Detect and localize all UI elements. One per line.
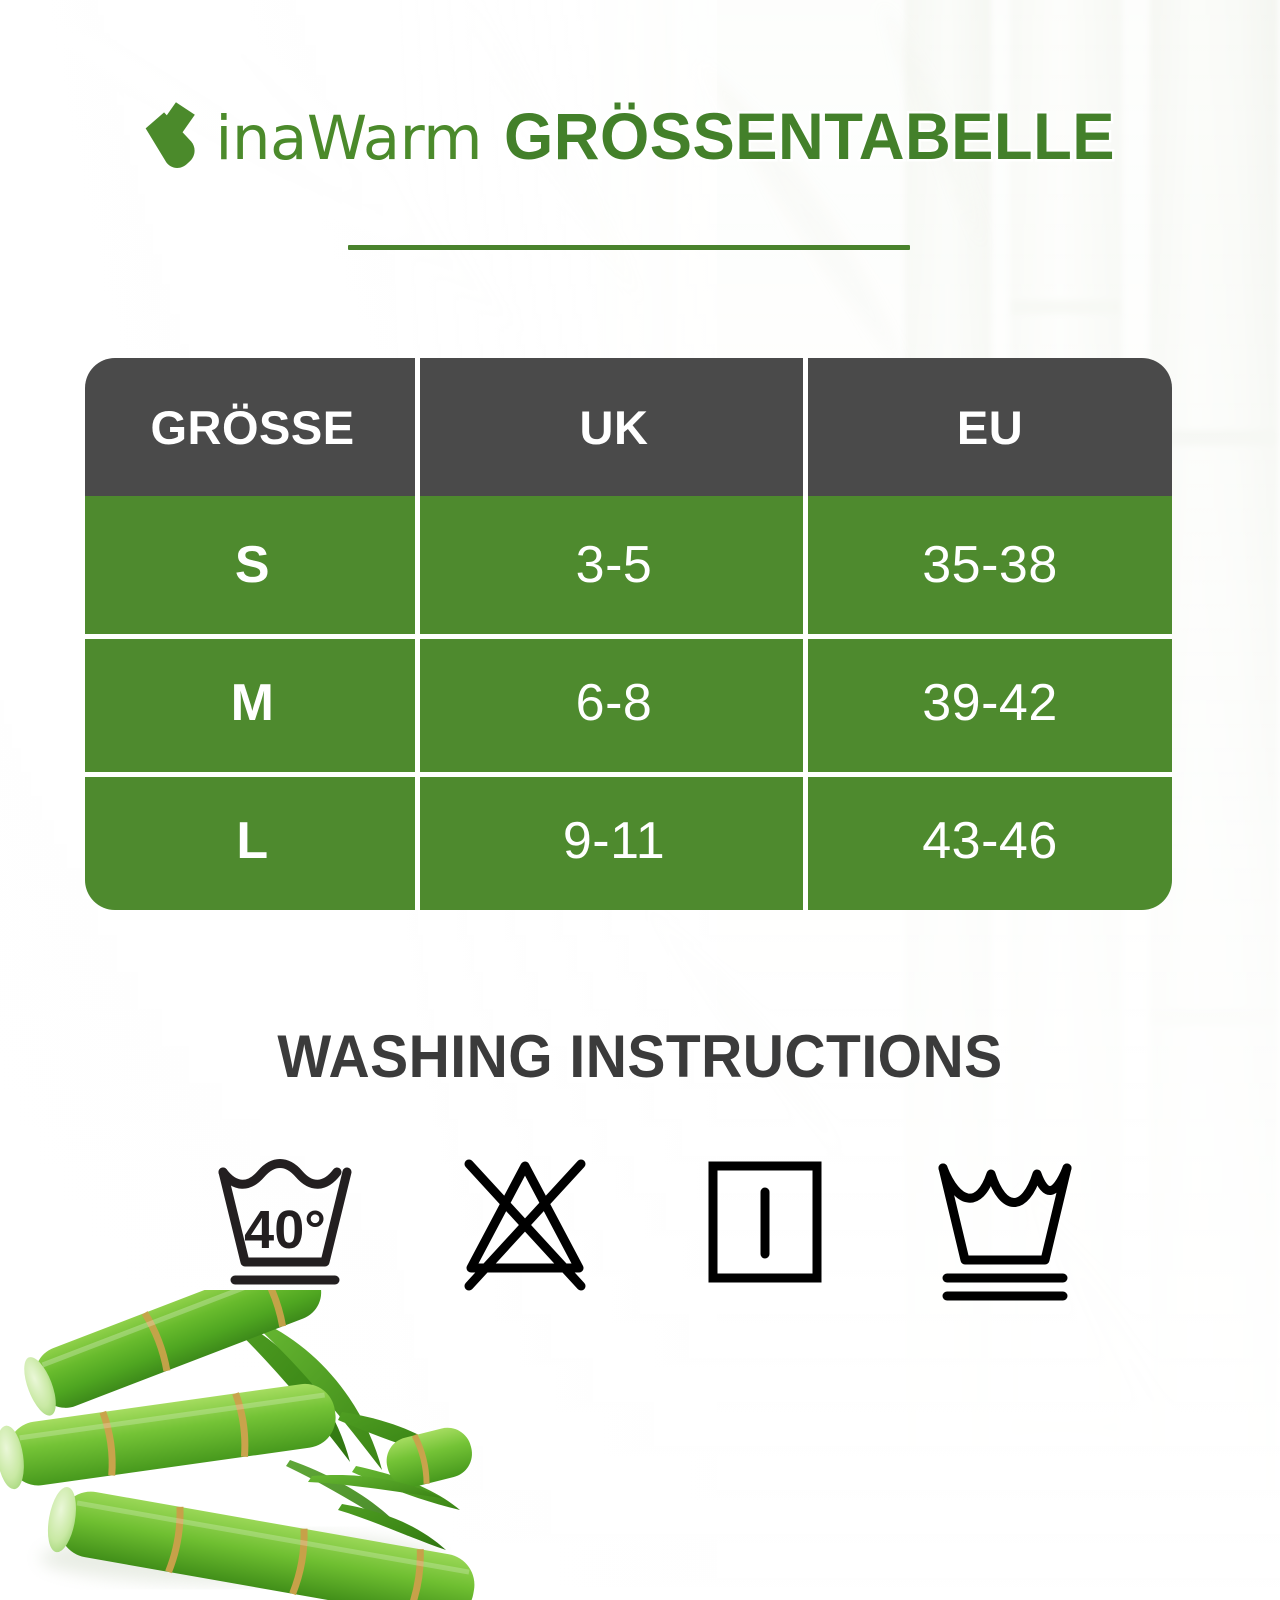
wash-temperature-label: 40° <box>244 1200 326 1260</box>
size-chart-page: inaWarm GRÖSSENTABELLE GRÖSSE UK EU S 3-… <box>0 0 1280 1600</box>
wash-very-gentle-icon <box>925 1140 1085 1305</box>
column-header-eu: EU <box>808 358 1172 496</box>
brand-name: inaWarm <box>215 103 482 174</box>
title-divider <box>348 245 910 250</box>
wash-40-degrees-gentle-icon: 40° <box>205 1140 365 1305</box>
washing-symbols-row: 40° <box>205 1140 1085 1305</box>
cell-size: S <box>85 496 420 634</box>
table-row: M 6-8 39-42 <box>85 634 1172 772</box>
page-title: GRÖSSENTABELLE <box>504 98 1115 174</box>
page-header: inaWarm GRÖSSENTABELLE <box>0 98 1280 174</box>
size-table: GRÖSSE UK EU S 3-5 35-38 M 6-8 39-42 L 9… <box>85 358 1172 910</box>
cell-size: M <box>85 634 420 772</box>
cell-uk: 9-11 <box>420 772 808 910</box>
cell-uk: 3-5 <box>420 496 808 634</box>
bamboo-stalks-photo <box>0 1290 510 1600</box>
cell-eu: 39-42 <box>808 634 1172 772</box>
line-dry-icon <box>685 1140 845 1305</box>
column-header-groesse: GRÖSSE <box>85 358 420 496</box>
cell-eu: 35-38 <box>808 496 1172 634</box>
cell-size: L <box>85 772 420 910</box>
inawarm-logo-icon <box>139 100 201 172</box>
table-row: L 9-11 43-46 <box>85 772 1172 910</box>
cell-uk: 6-8 <box>420 634 808 772</box>
washing-instructions-heading: WASHING INSTRUCTIONS <box>32 1022 1248 1091</box>
do-not-bleach-icon <box>445 1140 605 1305</box>
column-header-uk: UK <box>420 358 808 496</box>
table-row: S 3-5 35-38 <box>85 496 1172 634</box>
table-header-row: GRÖSSE UK EU <box>85 358 1172 496</box>
cell-eu: 43-46 <box>808 772 1172 910</box>
